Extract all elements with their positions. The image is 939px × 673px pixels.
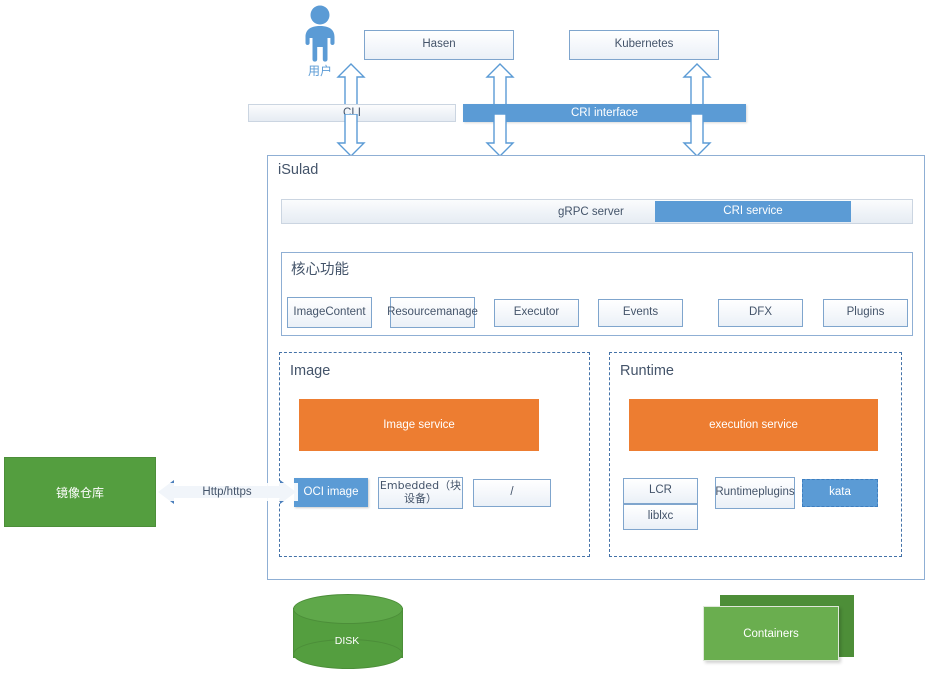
core-module-plugins-label: Plugins [847, 306, 885, 320]
arrow-hasen-to-cri [482, 62, 518, 110]
runtime-backend-lcr[interactable]: LCR [623, 478, 698, 504]
image-backend-embedded-label: Embedded（块设备） [379, 480, 462, 506]
core-module-events[interactable]: Events [598, 299, 683, 327]
runtime-backend-liblxc[interactable]: liblxc [623, 504, 698, 530]
image-registry-label: 镜像仓库 [56, 484, 104, 501]
core-module-resource-manage[interactable]: Resourcemanage [390, 297, 475, 328]
core-module-image-content-label: ImageContent [293, 306, 365, 320]
runtime-section-title: Runtime [620, 363, 674, 379]
core-module-executor[interactable]: Executor [494, 299, 579, 327]
cri-service-box[interactable]: CRI service [655, 201, 851, 222]
image-section [279, 352, 590, 557]
runtime-backend-runtime-plugins-label: Runtimeplugins [715, 486, 794, 500]
core-module-image-content[interactable]: ImageContent [287, 297, 372, 328]
client-box-hasen-label: Hasen [422, 38, 455, 52]
runtime-backend-kata[interactable]: kata [802, 479, 878, 507]
runtime-backend-lcr-label: LCR [649, 484, 672, 498]
disk-top-ellipse [293, 594, 403, 624]
image-backend-oci-image[interactable]: OCI image [294, 478, 368, 507]
image-backend-root-label: / [510, 486, 513, 500]
image-service-label: Image service [383, 419, 455, 431]
image-backend-embedded[interactable]: Embedded（块设备） [378, 477, 463, 509]
arrow-cri-to-isulad-right [679, 114, 715, 158]
image-backend-root[interactable]: / [473, 479, 551, 507]
client-box-kubernetes-label: Kubernetes [615, 38, 674, 52]
cri-service-label: CRI service [723, 205, 782, 219]
runtime-backend-liblxc-label: liblxc [648, 510, 674, 524]
core-module-plugins[interactable]: Plugins [823, 299, 908, 327]
arrow-kubernetes-to-cri [679, 62, 715, 110]
core-module-executor-label: Executor [514, 306, 559, 320]
runtime-backend-runtime-plugins[interactable]: Runtimeplugins [715, 477, 795, 509]
arrow-cri-to-isulad-left [482, 114, 518, 158]
core-module-dfx[interactable]: DFX [718, 299, 803, 327]
diagram-canvas: 用户 Hasen Kubernetes CLI CRI interface [0, 0, 939, 673]
client-box-hasen[interactable]: Hasen [364, 30, 514, 60]
execution-service-label: execution service [709, 419, 798, 431]
client-box-kubernetes[interactable]: Kubernetes [569, 30, 719, 60]
core-module-resource-manage-label: Resourcemanage [387, 306, 478, 320]
core-module-dfx-label: DFX [749, 306, 772, 320]
interface-bar-cri-label: CRI interface [571, 107, 638, 119]
http-https-label-wrap: Http/https [156, 483, 298, 501]
isulad-panel-title: iSulad [278, 162, 318, 178]
image-service-box[interactable]: Image service [299, 399, 539, 451]
user-person-icon [296, 4, 344, 62]
grpc-server-label: gRPC server [558, 206, 624, 218]
arrow-cli-to-isulad [333, 114, 369, 158]
core-module-events-label: Events [623, 306, 658, 320]
execution-service-box[interactable]: execution service [629, 399, 878, 451]
core-functions-section [281, 252, 913, 336]
arrow-user-to-cli [333, 62, 369, 110]
containers-label: Containers [743, 628, 799, 640]
core-functions-title: 核心功能 [291, 258, 349, 279]
image-section-title: Image [290, 363, 330, 379]
containers-front-card[interactable]: Containers [703, 606, 839, 661]
image-registry-box[interactable]: 镜像仓库 [4, 457, 156, 527]
runtime-backend-kata-label: kata [829, 486, 851, 500]
image-backend-oci-image-label: OCI image [304, 486, 359, 500]
http-https-label: Http/https [202, 486, 251, 498]
disk-label: DISK [293, 635, 401, 647]
